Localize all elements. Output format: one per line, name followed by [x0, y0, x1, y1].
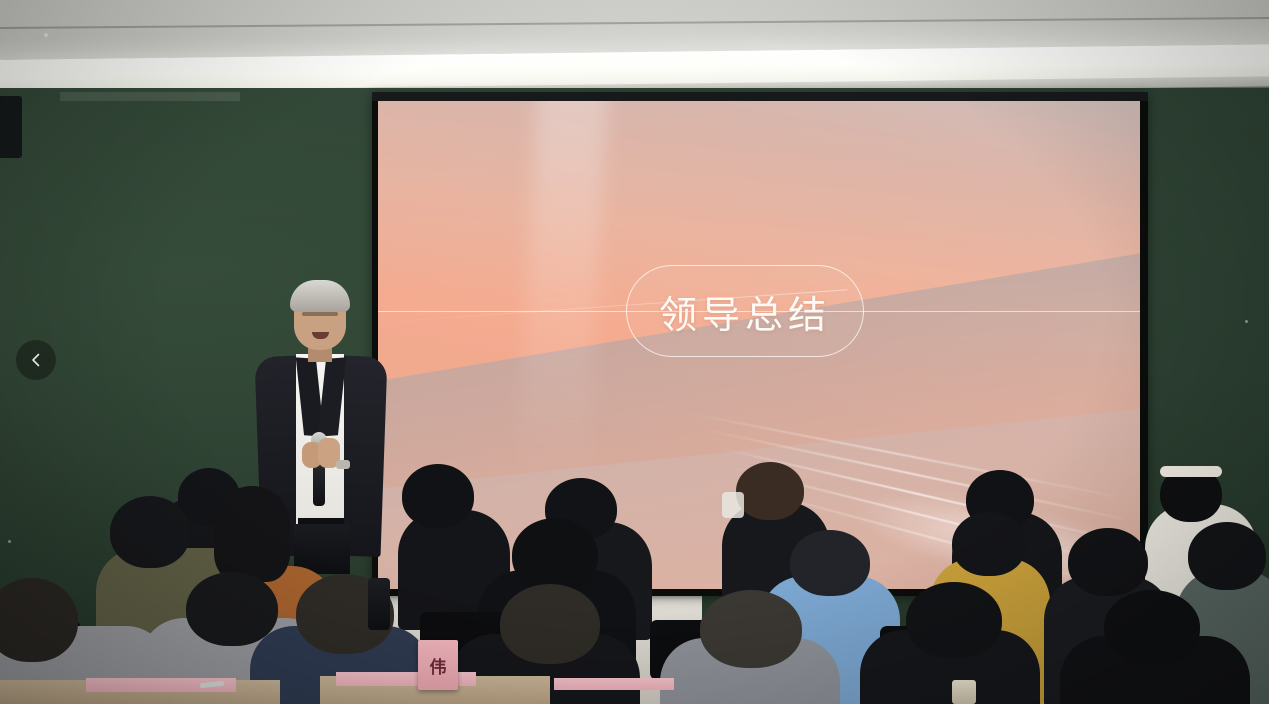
attendee-head — [512, 518, 598, 592]
attendee-head — [110, 496, 190, 568]
attendee-head — [736, 462, 804, 520]
attendee-head — [952, 512, 1026, 576]
ceiling-fixture-dot — [44, 33, 48, 37]
photo-scene: 领导总结 — [0, 0, 1269, 704]
attendee-mask — [722, 492, 744, 518]
attendee-head — [214, 486, 290, 582]
attendee-head — [1104, 590, 1200, 664]
attendee-head — [402, 464, 474, 528]
bottle — [368, 578, 390, 630]
wall-speaker — [0, 96, 22, 158]
projection-screen-top-bar — [372, 92, 1148, 101]
presenter-hair — [290, 280, 350, 312]
attendee-head — [500, 584, 600, 664]
attendee-head — [186, 572, 278, 646]
attendee-head — [1188, 522, 1266, 590]
wall-vent — [60, 92, 240, 101]
attendee-head — [0, 578, 78, 662]
name-placard-text: 伟 — [430, 653, 447, 678]
attendee-headband — [1160, 466, 1222, 477]
wall-glint — [1245, 320, 1248, 323]
chevron-left-icon — [28, 352, 44, 368]
cup — [952, 680, 976, 704]
carousel-prev-button[interactable] — [16, 340, 56, 380]
attendee-head — [906, 582, 1002, 658]
slide-title: 领导总结 — [659, 284, 831, 339]
attendee-head — [790, 530, 870, 596]
desk-pink-pad — [554, 678, 674, 690]
attendee-head — [700, 590, 802, 668]
slide-title-pill: 领导总结 — [626, 265, 864, 357]
audience: 伟 — [0, 430, 1269, 704]
presenter-brow — [302, 312, 338, 316]
name-placard: 伟 — [418, 640, 458, 690]
attendee-head — [1068, 528, 1148, 596]
